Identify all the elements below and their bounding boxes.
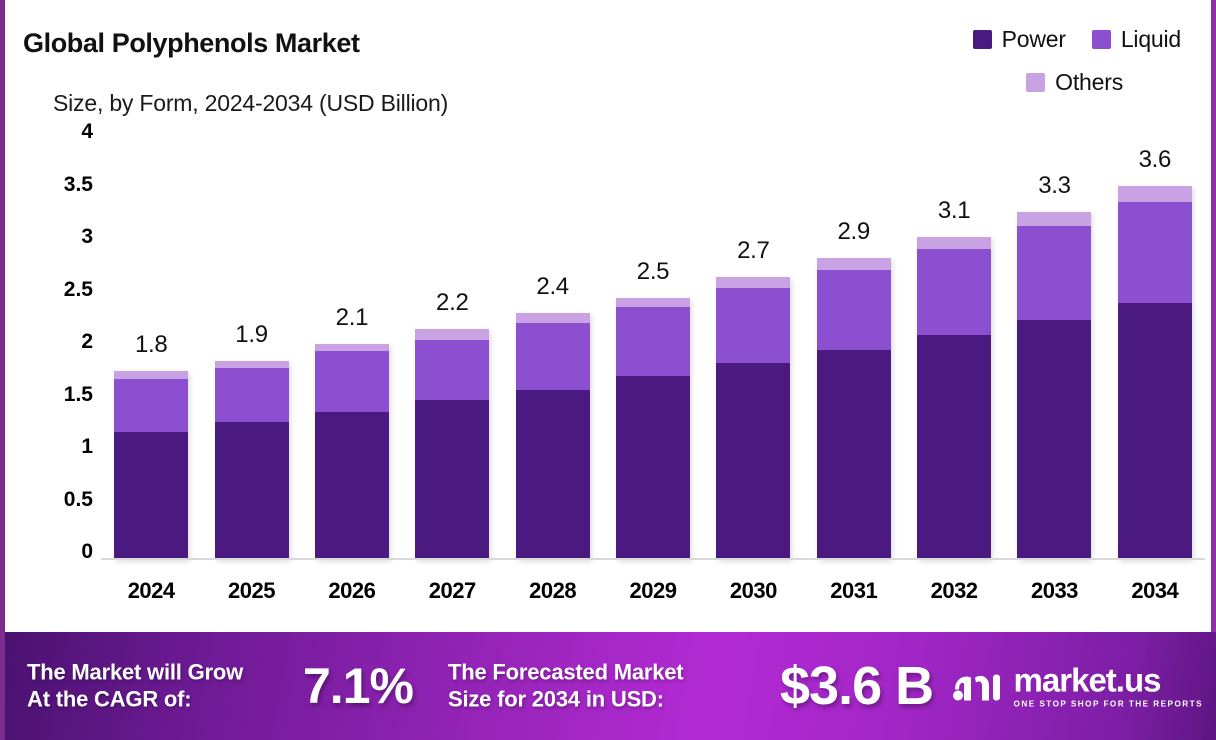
bar-segment-power[interactable] — [716, 363, 790, 560]
bar-group[interactable]: 2.9 — [817, 140, 891, 560]
market-us-logo[interactable]: market.us ONE STOP SHOP FOR THE REPORTS — [951, 664, 1203, 709]
bar-total-label: 3.3 — [1038, 172, 1070, 200]
bar-segment-power[interactable] — [817, 350, 891, 560]
x-axis-tick: 2028 — [529, 578, 576, 604]
legend-row-secondary: Others — [851, 69, 1181, 96]
bar-total-label: 1.9 — [235, 321, 267, 349]
x-axis-line — [101, 558, 1205, 560]
logo-name: market.us — [1014, 664, 1203, 697]
stacked-bar[interactable] — [716, 277, 790, 561]
chart-legend: Power Liquid Others — [851, 26, 1181, 96]
footer-banner: The Market will Grow At the CAGR of: 7.1… — [5, 632, 1216, 740]
y-axis-tick: 3 — [81, 225, 93, 249]
bar-segment-liquid[interactable] — [114, 379, 188, 432]
legend-label-liquid: Liquid — [1121, 26, 1181, 53]
bar-segment-others[interactable] — [315, 344, 389, 351]
x-axis-tick: 2024 — [128, 578, 175, 604]
logo-tagline: ONE STOP SHOP FOR THE REPORTS — [1014, 700, 1203, 709]
bar-segment-others[interactable] — [616, 298, 690, 307]
bar-segment-power[interactable] — [1017, 320, 1091, 560]
chart-subtitle: Size, by Form, 2024-2034 (USD Billion) — [53, 90, 448, 117]
y-axis-tick: 4 — [81, 120, 93, 144]
cagr-label-line1: The Market will Grow — [27, 659, 243, 686]
legend-label-power: Power — [1002, 26, 1066, 53]
y-axis-tick: 2 — [81, 330, 93, 354]
stacked-bar[interactable] — [817, 258, 891, 560]
bar-segment-liquid[interactable] — [516, 323, 590, 390]
stacked-bar[interactable] — [114, 371, 188, 560]
legend-swatch-power — [973, 30, 992, 49]
bar-group[interactable]: 2.1 — [315, 140, 389, 560]
cagr-label: The Market will Grow At the CAGR of: — [27, 659, 243, 714]
y-axis-tick: 3.5 — [64, 173, 93, 197]
logo-text-block: market.us ONE STOP SHOP FOR THE REPORTS — [1014, 664, 1203, 709]
page-title: Global Polyphenols Market — [23, 28, 360, 59]
bar-segment-liquid[interactable] — [616, 307, 690, 376]
stacked-bar[interactable] — [1017, 212, 1091, 560]
forecast-label-line2: Size for 2034 in USD: — [448, 686, 683, 713]
forecast-label: The Forecasted Market Size for 2034 in U… — [448, 659, 683, 714]
legend-swatch-liquid — [1092, 30, 1111, 49]
y-axis-tick: 2.5 — [64, 278, 93, 302]
bar-group[interactable]: 2.5 — [616, 140, 690, 560]
y-axis-tick: 1.5 — [64, 383, 93, 407]
bar-segment-others[interactable] — [1017, 212, 1091, 226]
bar-segment-power[interactable] — [917, 335, 991, 560]
bar-segment-others[interactable] — [716, 277, 790, 289]
bar-total-label: 2.5 — [637, 258, 669, 286]
bar-segment-power[interactable] — [315, 412, 389, 560]
chart-infographic: Global Polyphenols Market Size, by Form,… — [0, 0, 1216, 740]
bar-total-label: 3.1 — [938, 197, 970, 225]
legend-item-liquid[interactable]: Liquid — [1092, 26, 1181, 53]
bar-total-label: 2.2 — [436, 289, 468, 317]
stacked-bar[interactable] — [215, 361, 289, 561]
bar-total-label: 1.8 — [135, 331, 167, 359]
bar-segment-others[interactable] — [1118, 186, 1192, 202]
bar-segment-power[interactable] — [415, 400, 489, 560]
bar-group[interactable]: 1.8 — [114, 140, 188, 560]
bar-total-label: 2.4 — [536, 273, 568, 301]
bar-segment-power[interactable] — [616, 376, 690, 560]
bar-segment-liquid[interactable] — [716, 288, 790, 363]
bar-segment-liquid[interactable] — [817, 270, 891, 350]
bar-group[interactable]: 2.4 — [516, 140, 590, 560]
bar-segment-power[interactable] — [114, 432, 188, 560]
x-axis-tick: 2025 — [228, 578, 275, 604]
bar-segment-liquid[interactable] — [917, 249, 991, 335]
legend-swatch-others — [1026, 73, 1045, 92]
legend-label-others: Others — [1055, 69, 1123, 96]
bar-segment-others[interactable] — [215, 361, 289, 368]
bar-group[interactable]: 2.7 — [716, 140, 790, 560]
cagr-label-line2: At the CAGR of: — [27, 686, 243, 713]
stacked-bar[interactable] — [315, 344, 389, 560]
bar-total-label: 3.6 — [1139, 146, 1171, 174]
bar-total-label: 2.9 — [837, 218, 869, 246]
bar-series-container: 1.81.92.12.22.42.52.72.93.13.33.6 — [101, 140, 1205, 560]
bar-segment-others[interactable] — [415, 329, 489, 340]
y-axis-tick: 1 — [81, 435, 93, 459]
bar-segment-others[interactable] — [516, 313, 590, 322]
stacked-bar[interactable] — [1118, 186, 1192, 560]
x-axis-tick: 2033 — [1031, 578, 1078, 604]
bar-segment-others[interactable] — [817, 258, 891, 271]
bar-total-label: 2.7 — [737, 237, 769, 265]
stacked-bar[interactable] — [516, 313, 590, 560]
y-axis-labels: 00.511.522.533.54 — [45, 132, 93, 560]
legend-row-primary: Power Liquid — [851, 26, 1181, 53]
x-axis-tick: 2029 — [630, 578, 677, 604]
bar-segment-others[interactable] — [917, 237, 991, 250]
bar-segment-power[interactable] — [516, 390, 590, 560]
bar-group[interactable]: 3.6 — [1118, 140, 1192, 560]
bar-segment-others[interactable] — [114, 371, 188, 379]
bar-group[interactable]: 1.9 — [215, 140, 289, 560]
y-axis-tick: 0 — [81, 540, 93, 564]
bar-group[interactable]: 3.3 — [1017, 140, 1091, 560]
bar-group[interactable]: 2.2 — [415, 140, 489, 560]
x-axis-tick: 2030 — [730, 578, 777, 604]
x-axis-tick: 2026 — [328, 578, 375, 604]
bar-segment-liquid[interactable] — [1118, 202, 1192, 303]
x-axis-tick: 2027 — [429, 578, 476, 604]
forecast-value: $3.6 B — [780, 655, 933, 717]
forecast-label-line1: The Forecasted Market — [448, 659, 683, 686]
legend-item-power[interactable]: Power — [973, 26, 1066, 53]
bar-segment-power[interactable] — [1118, 303, 1192, 560]
x-axis-labels: 2024202520262027202820292030203120322033… — [101, 578, 1205, 610]
bar-segment-liquid[interactable] — [215, 368, 289, 423]
bar-segment-liquid[interactable] — [315, 351, 389, 412]
bar-segment-liquid[interactable] — [415, 340, 489, 401]
legend-item-others[interactable]: Others — [1026, 69, 1123, 96]
stacked-bar[interactable] — [616, 298, 690, 561]
bar-total-label: 2.1 — [336, 304, 368, 332]
logo-mark-icon — [951, 669, 1003, 703]
stacked-bar[interactable] — [415, 329, 489, 560]
x-axis-tick: 2032 — [931, 578, 978, 604]
x-axis-tick: 2034 — [1131, 578, 1178, 604]
bar-segment-power[interactable] — [215, 422, 289, 560]
y-axis-tick: 0.5 — [64, 488, 93, 512]
x-axis-tick: 2031 — [830, 578, 877, 604]
plot-area: 1.81.92.12.22.42.52.72.93.13.33.6 — [101, 140, 1205, 560]
cagr-value: 7.1% — [303, 657, 413, 715]
bar-group[interactable]: 3.1 — [917, 140, 991, 560]
stacked-bar[interactable] — [917, 237, 991, 560]
bar-segment-liquid[interactable] — [1017, 226, 1091, 319]
